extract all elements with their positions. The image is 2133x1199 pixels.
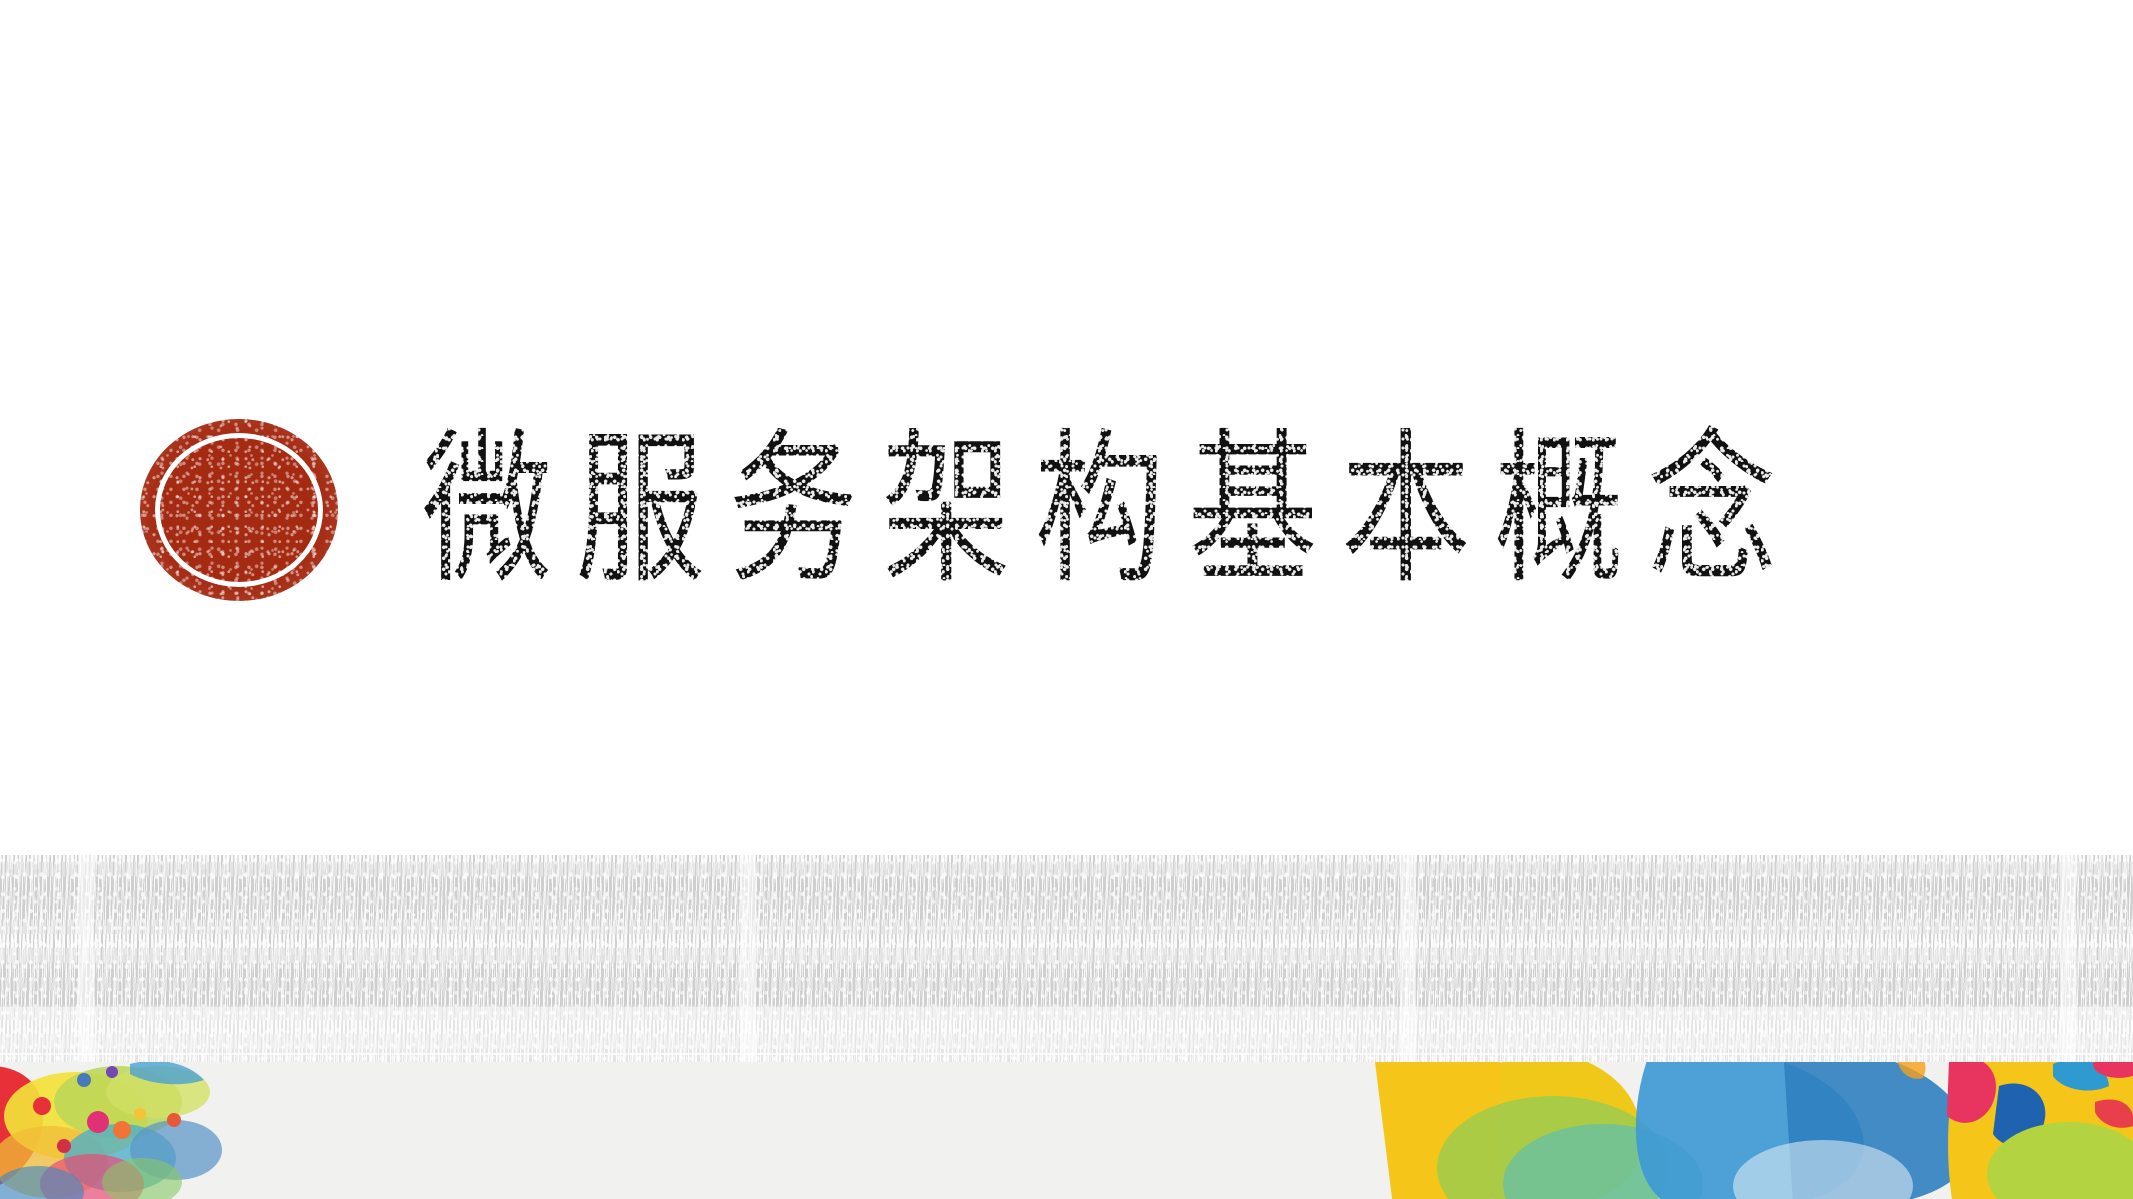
texture-tile xyxy=(1434,855,1912,1062)
texture-tile xyxy=(1912,855,2133,1062)
slide-title-row: 微服务架构基本概念 xyxy=(140,400,1940,620)
texture-seam xyxy=(2060,855,2076,1062)
texture-tile xyxy=(956,855,1434,1062)
texture-baseline xyxy=(0,1053,2133,1055)
texture-tile xyxy=(478,855,956,1062)
texture-tile xyxy=(0,855,478,1062)
bullet-inner-ring xyxy=(155,433,323,587)
watercolor-blob-cluster-left xyxy=(0,1062,280,1199)
distressed-texture-band xyxy=(0,855,2133,1062)
slide-canvas: 微服务架构基本概念 xyxy=(0,0,2133,1199)
watercolor-blob-cluster-right xyxy=(1353,1062,2133,1199)
texture-seam xyxy=(740,855,756,1062)
page-title-text: 微服务架构基本概念 xyxy=(422,398,1800,622)
filled-circle-ring-icon xyxy=(140,419,338,601)
page-title: 微服务架构基本概念 xyxy=(422,410,1988,610)
texture-seam xyxy=(78,855,94,1062)
texture-seam xyxy=(1400,855,1416,1062)
watercolor-left-svg xyxy=(0,1062,280,1199)
watercolor-right-svg xyxy=(1353,1062,2133,1199)
footer-bar: 第 七 届 数据技术嘉年华 Data Technology Carnival xyxy=(0,1062,2133,1199)
